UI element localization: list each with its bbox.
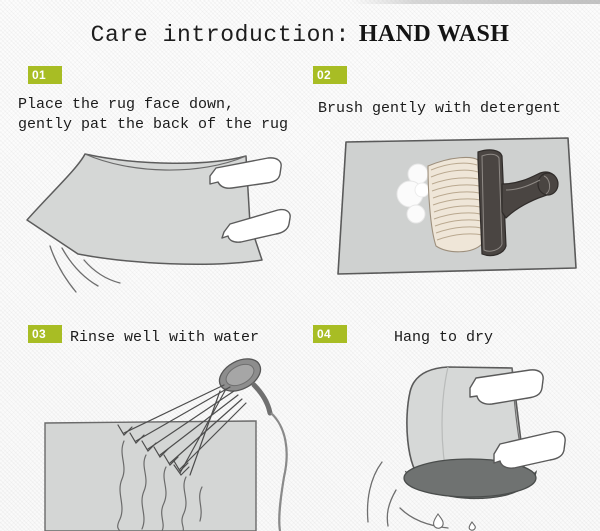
illustration-step-04 — [362, 362, 600, 531]
step-badge-04: 04 — [313, 325, 347, 343]
illustration-step-01 — [10, 128, 300, 298]
step-badge-03: 03 — [28, 325, 62, 343]
page-title-emphasis: HAND WASH — [359, 21, 510, 47]
step-badge-01: 01 — [28, 66, 62, 84]
step-caption-03: Rinse well with water — [70, 328, 259, 348]
step-caption-04: Hang to dry — [394, 328, 493, 348]
step-caption-01: Place the rug face down, gently pat the … — [18, 95, 288, 135]
step-caption-02: Brush gently with detergent — [318, 99, 561, 119]
top-edge-band — [352, 0, 600, 4]
page-title: Care introduction:HAND WASH — [0, 21, 600, 48]
illustration-step-02 — [332, 132, 580, 284]
illustration-step-03 — [40, 355, 308, 531]
page-title-prefix: Care introduction: — [91, 22, 350, 48]
step-badge-02: 02 — [313, 66, 347, 84]
step-caption-01-line2: gently pat the back of the rug — [18, 115, 288, 135]
step-caption-01-line1: Place the rug face down, — [18, 96, 234, 113]
